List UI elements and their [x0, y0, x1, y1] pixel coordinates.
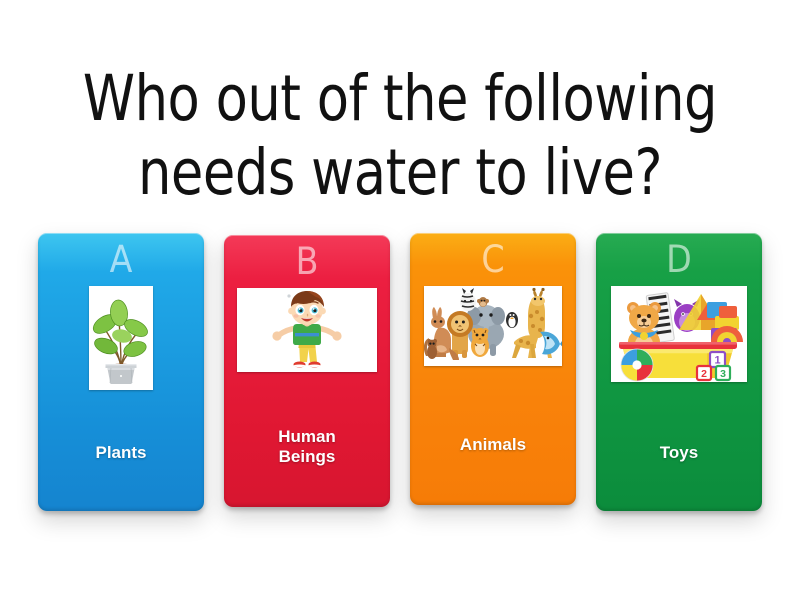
svg-text:1: 1	[714, 355, 720, 367]
cartoon-boy-image	[237, 288, 377, 372]
potted-plant-image	[89, 286, 153, 390]
svg-text:2: 2	[701, 368, 707, 380]
toy-box-image: 1 2 3	[611, 286, 747, 382]
answer-options-row: A	[38, 233, 762, 511]
cartoon-animals-group-image	[424, 286, 562, 366]
answer-letter-c: C	[481, 241, 504, 278]
answer-card-a[interactable]: A	[38, 233, 204, 511]
answer-letter-b: B	[296, 243, 319, 280]
answer-label-c: Animals	[454, 435, 532, 455]
quiz-slide: Who out of the following needs water to …	[0, 0, 800, 600]
answer-letter-a: A	[110, 241, 133, 278]
answer-card-b[interactable]: B	[224, 235, 390, 507]
answer-label-a: Plants	[89, 443, 152, 463]
question-text: Who out of the following needs water to …	[47, 62, 754, 211]
answer-card-c[interactable]: C	[410, 233, 576, 505]
answer-letter-d: D	[666, 241, 692, 278]
answer-label-d: Toys	[654, 443, 704, 463]
answer-card-d[interactable]: D	[596, 233, 762, 511]
answer-label-b: Human Beings	[272, 427, 342, 467]
svg-text:3: 3	[720, 368, 726, 380]
